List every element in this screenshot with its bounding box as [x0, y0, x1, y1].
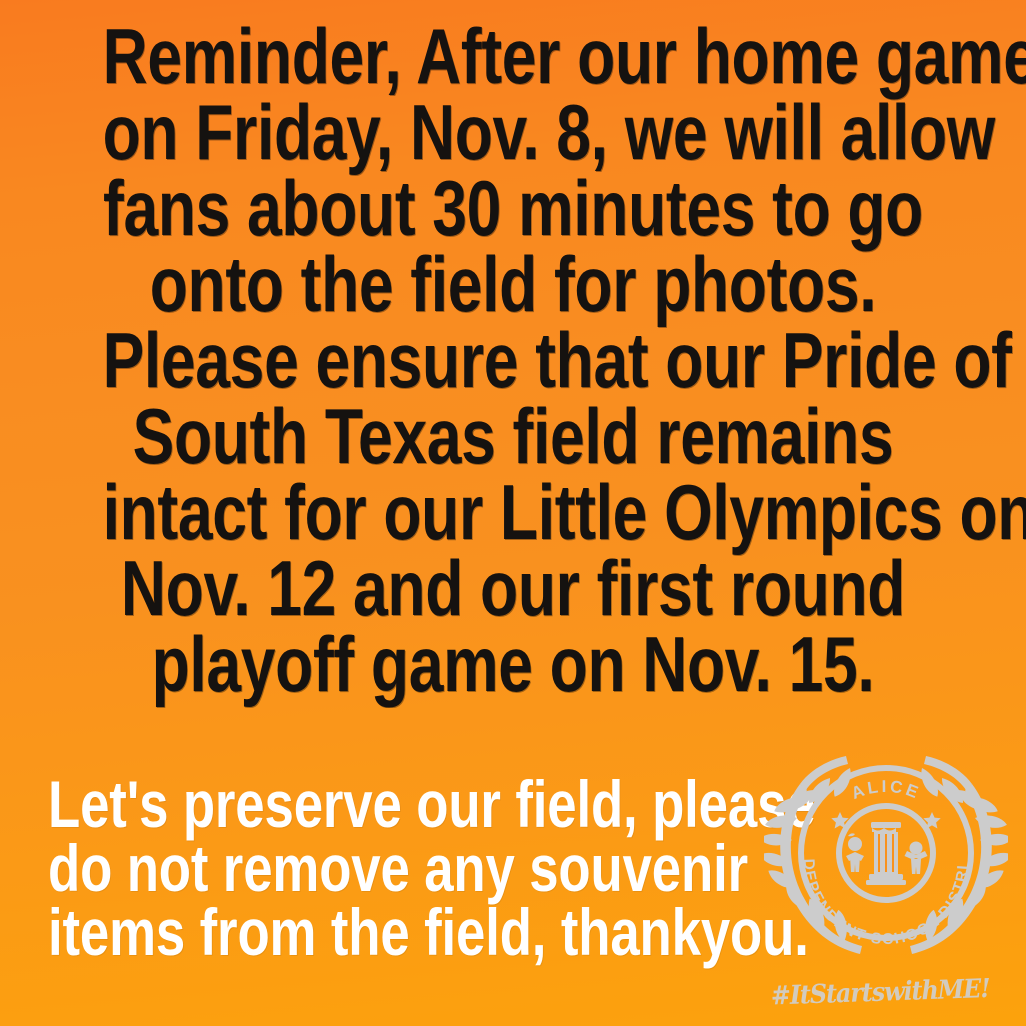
headline-line-8: Nov. 12 and our first round — [103, 550, 924, 626]
headline-line-1: Reminder, After our home game — [103, 18, 924, 94]
subline-text-block: Let's preserve our field, please do not … — [48, 772, 800, 964]
poster-canvas: Reminder, After our home game on Friday,… — [0, 0, 1026, 1026]
headline-line-2: on Friday, Nov. 8, we will allow — [103, 94, 924, 170]
headline-line-7: intact for our Little Olympics on — [103, 474, 924, 550]
headline-line-3: fans about 30 minutes to go — [103, 170, 924, 246]
headline-line-5: Please ensure that our Pride of — [103, 322, 924, 398]
alice-isd-seal-logo: ALICE INDEPENDENT SCHOOL DISTRICT — [764, 740, 1008, 968]
seal-top-text: ALICE — [849, 777, 924, 803]
subline-line-2: do not remove any souvenir — [48, 836, 800, 900]
headline-line-9: playoff game on Nov. 15. — [103, 626, 924, 702]
hashtag-tagline: #ItStartswithME! — [770, 974, 973, 1011]
headline-line-6: South Texas field remains — [103, 398, 924, 474]
headline-line-4: onto the field for photos. — [103, 246, 924, 322]
child-figure-left-icon — [846, 833, 864, 872]
seal-logo-icon: ALICE INDEPENDENT SCHOOL DISTRICT — [764, 740, 1008, 968]
child-figure-right-icon — [905, 842, 928, 875]
headline-text-block: Reminder, After our home game on Friday,… — [103, 18, 924, 702]
subline-line-1: Let's preserve our field, please — [48, 772, 800, 836]
subline-line-3: items from the field, thankyou. — [48, 900, 800, 964]
